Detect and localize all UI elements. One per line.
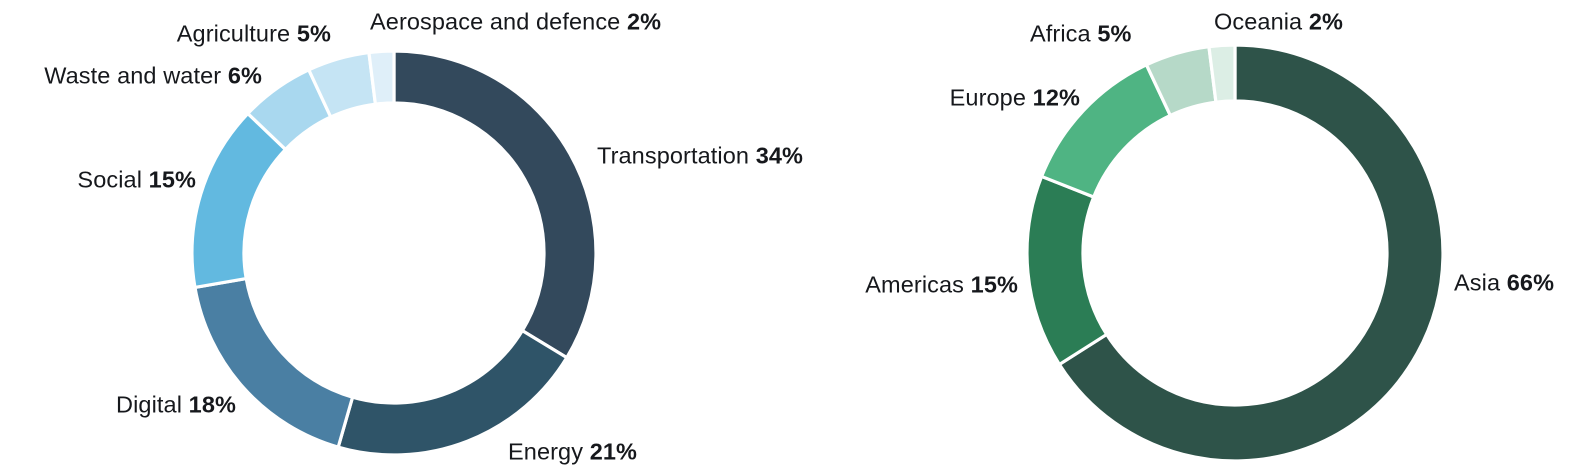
slice-label-name: Energy <box>508 438 590 464</box>
slice-label-value: 15% <box>149 166 196 192</box>
slice-label: Social 15% <box>77 168 196 192</box>
donut-slice[interactable] <box>1027 176 1107 364</box>
donut-slice[interactable] <box>338 331 567 455</box>
slice-label: Asia 66% <box>1454 271 1554 295</box>
slice-label-value: 2% <box>1309 8 1343 34</box>
slice-label-name: Americas <box>865 271 970 297</box>
slice-label-value: 21% <box>590 438 637 464</box>
slice-label-name: Asia <box>1454 269 1507 295</box>
donut-slice[interactable] <box>192 114 285 288</box>
slice-label-name: Europe <box>950 84 1033 110</box>
donut-chart-region-breakdown: Asia 66%Americas 15%Europe 12%Africa 5%O… <box>790 0 1577 476</box>
slice-label-name: Transportation <box>597 142 756 168</box>
slice-label-value: 18% <box>189 391 236 417</box>
slice-label: Digital 18% <box>116 393 236 417</box>
slice-label-value: 6% <box>228 62 262 88</box>
slice-label: Transportation 34% <box>597 144 803 168</box>
slice-label-name: Social <box>77 166 148 192</box>
slice-label: Waste and water 6% <box>44 64 262 88</box>
region-donut-svg <box>790 0 1577 476</box>
slice-label-name: Digital <box>116 391 189 417</box>
slice-label-name: Oceania <box>1214 8 1309 34</box>
slice-label: Oceania 2% <box>1214 10 1343 34</box>
slice-label: Agriculture 5% <box>177 22 331 46</box>
slice-label-value: 2% <box>627 8 661 34</box>
slice-label-value: 5% <box>297 20 331 46</box>
slice-label: Africa 5% <box>1030 22 1131 46</box>
donut-slice[interactable] <box>195 279 353 448</box>
slice-label-value: 12% <box>1033 84 1080 110</box>
slice-label-name: Agriculture <box>177 20 297 46</box>
slice-label: Americas 15% <box>865 273 1018 297</box>
slice-label: Energy 21% <box>508 440 637 464</box>
donut-slice[interactable] <box>394 51 596 358</box>
slice-label: Aerospace and defence 2% <box>370 10 661 34</box>
figure-canvas: Transportation 34%Energy 21%Digital 18%S… <box>0 0 1577 476</box>
slice-label: Europe 12% <box>950 86 1080 110</box>
slice-label-value: 5% <box>1097 20 1131 46</box>
slice-label-name: Aerospace and defence <box>370 8 627 34</box>
slice-label-value: 66% <box>1507 269 1554 295</box>
slice-label-name: Waste and water <box>44 62 228 88</box>
donut-chart-sector-breakdown: Transportation 34%Energy 21%Digital 18%S… <box>0 0 790 476</box>
slice-label-value: 15% <box>971 271 1018 297</box>
donut-slices <box>1027 45 1443 461</box>
slice-label-name: Africa <box>1030 20 1097 46</box>
donut-slices <box>192 51 596 455</box>
